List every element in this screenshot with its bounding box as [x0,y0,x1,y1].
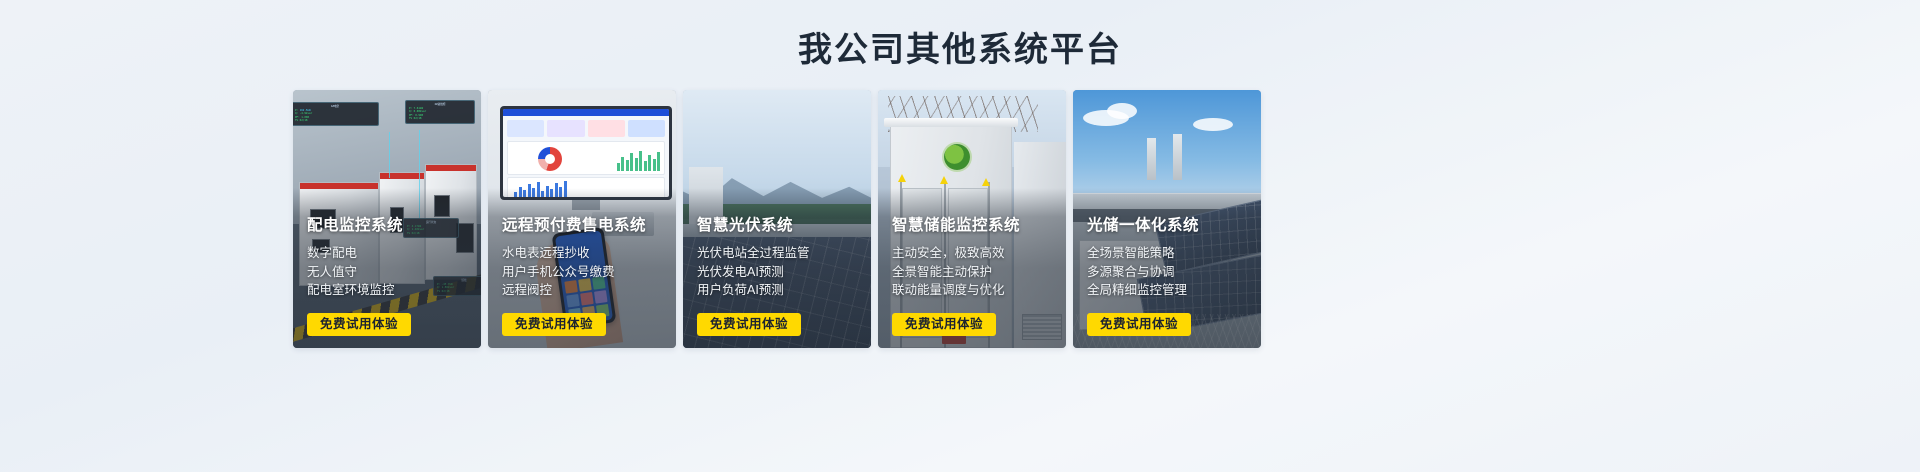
card-body: 远程预付费售电系统 水电表远程抄收 用户手机公众号缴费 远程阀控 免费试用体验 [502,213,666,336]
free-trial-button[interactable]: 免费试用体验 [1087,313,1191,337]
card-feature: 光伏发电AI预测 [697,263,861,282]
free-trial-button[interactable]: 免费试用体验 [697,313,801,337]
free-trial-button[interactable]: 免费试用体验 [892,313,996,337]
free-trial-button[interactable]: 免费试用体验 [307,313,411,337]
system-card[interactable]: 光储一体化系统 全场景智能策略 多源聚合与协调 全局精细监控管理 免费试用体验 [1073,90,1261,348]
system-card-list: 1#电室P: 162.5kWQ: -4.9kvarPF: 1.000TS 02/… [293,90,1473,350]
card-title: 光储一体化系统 [1087,213,1251,235]
free-trial-button[interactable]: 免费试用体验 [502,313,606,337]
card-feature: 用户负荷AI预测 [697,281,861,300]
system-card[interactable]: 远程预付费售电系统 水电表远程抄收 用户手机公众号缴费 远程阀控 免费试用体验 [488,90,676,348]
card-body: 智慧储能监控系统 主动安全，极致高效 全景智能主动保护 联动能量调度与优化 免费… [892,213,1056,336]
card-feature: 数字配电 [307,244,471,263]
page-root: 我公司其他系统平台 1#电室P: 162.5kWQ: -4.9kvarPF: 1… [0,0,1920,472]
card-feature: 无人值守 [307,263,471,282]
system-card[interactable]: 智慧光伏系统 光伏电站全过程监管 光伏发电AI预测 用户负荷AI预测 免费试用体… [683,90,871,348]
card-feature-list: 数字配电 无人值守 配电室环境监控 [307,244,471,300]
card-feature-list: 主动安全，极致高效 全景智能主动保护 联动能量调度与优化 [892,244,1056,300]
card-title: 智慧储能监控系统 [892,213,1056,235]
system-card[interactable]: 1#电室P: 162.5kWQ: -4.9kvarPF: 1.000TS 02/… [293,90,481,348]
card-body: 配电监控系统 数字配电 无人值守 配电室环境监控 免费试用体验 [307,213,471,336]
card-feature: 光伏电站全过程监管 [697,244,861,263]
card-feature: 全景智能主动保护 [892,263,1056,282]
card-feature-list: 全场景智能策略 多源聚合与协调 全局精细监控管理 [1087,244,1251,300]
card-feature: 联动能量调度与优化 [892,281,1056,300]
card-feature: 远程阀控 [502,281,666,300]
card-feature: 用户手机公众号缴费 [502,263,666,282]
card-feature: 全局精细监控管理 [1087,281,1251,300]
card-body: 智慧光伏系统 光伏电站全过程监管 光伏发电AI预测 用户负荷AI预测 免费试用体… [697,213,861,336]
card-title: 智慧光伏系统 [697,213,861,235]
card-feature-list: 水电表远程抄收 用户手机公众号缴费 远程阀控 [502,244,666,300]
card-feature: 配电室环境监控 [307,281,471,300]
card-feature: 主动安全，极致高效 [892,244,1056,263]
card-feature: 水电表远程抄收 [502,244,666,263]
card-title: 远程预付费售电系统 [502,213,666,235]
card-feature: 全场景智能策略 [1087,244,1251,263]
card-body: 光储一体化系统 全场景智能策略 多源聚合与协调 全局精细监控管理 免费试用体验 [1087,213,1251,336]
card-title: 配电监控系统 [307,213,471,235]
card-feature: 多源聚合与协调 [1087,263,1251,282]
page-title: 我公司其他系统平台 [0,22,1920,71]
card-feature-list: 光伏电站全过程监管 光伏发电AI预测 用户负荷AI预测 [697,244,861,300]
system-card[interactable]: 智慧储能监控系统 主动安全，极致高效 全景智能主动保护 联动能量调度与优化 免费… [878,90,1066,348]
